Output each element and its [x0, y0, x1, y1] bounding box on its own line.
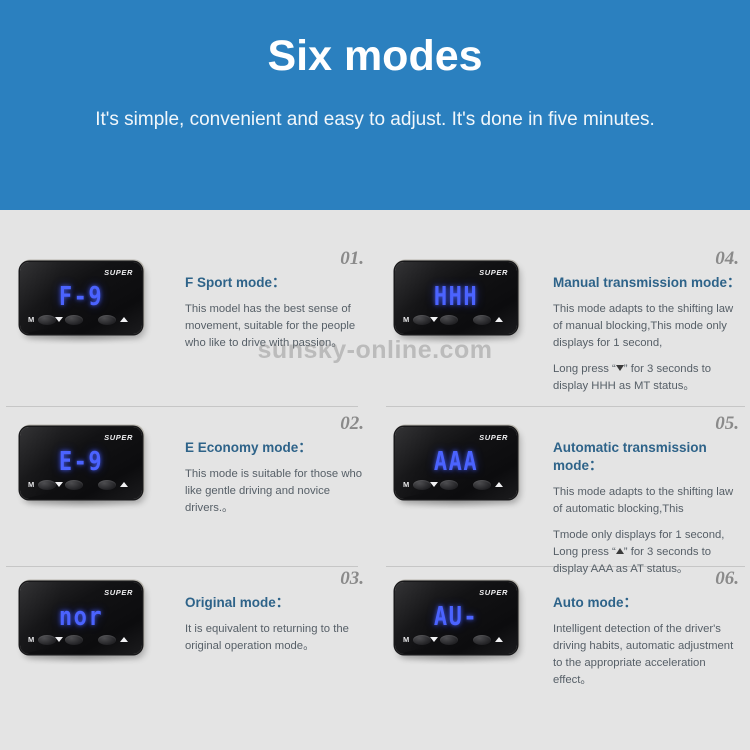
device-button-row: M [20, 312, 142, 328]
triangle-up-icon [120, 637, 128, 642]
mode-number: 05. [715, 413, 739, 435]
mode-text: 06. Auto mode： Intelligent detection of … [553, 568, 745, 689]
triangle-up-icon [616, 548, 624, 554]
triangle-down-icon [55, 637, 63, 642]
mode-card-03: SUPER nor M 03. Original mode： It is equ… [0, 568, 375, 738]
device-button-row: M [395, 312, 517, 328]
mode-number: 01. [340, 248, 364, 270]
mode-description: Intelligent detection of the driver's dr… [553, 612, 745, 690]
mode-card-06: SUPER AU- M 06. Auto mode： Intelligent d… [375, 568, 750, 738]
device-m-label: M [28, 315, 34, 324]
page-subtitle: It's simple, convenient and easy to adju… [75, 80, 675, 134]
device-brand-logo: SUPER [104, 433, 133, 442]
device-brand-logo: SUPER [479, 433, 508, 442]
mode-description: This mode is suitable for those who like… [185, 457, 370, 517]
device-button-down[interactable] [440, 635, 458, 645]
device-m-label: M [403, 315, 409, 324]
mode-number: 06. [715, 568, 739, 590]
device-button-m[interactable] [38, 635, 56, 645]
device-button-up[interactable] [98, 635, 116, 645]
mode-card-02: SUPER E-9 M 02. E Economy mode： This mod… [0, 413, 375, 568]
device-button-row: M [395, 632, 517, 648]
throttle-controller-device: SUPER F-9 M [20, 262, 142, 334]
device-button-m[interactable] [38, 480, 56, 490]
device-button-m[interactable] [413, 480, 431, 490]
device-button-down[interactable] [65, 480, 83, 490]
throttle-controller-device: SUPER E-9 M [20, 427, 142, 499]
triangle-down-icon [616, 365, 624, 371]
device-image: SUPER AAA M [389, 423, 534, 528]
triangle-down-icon [430, 637, 438, 642]
long-press-prefix: Long press “ [553, 363, 616, 375]
device-image: SUPER E-9 M [14, 423, 159, 528]
device-button-m[interactable] [38, 315, 56, 325]
device-brand-logo: SUPER [104, 268, 133, 277]
device-button-m[interactable] [413, 315, 431, 325]
device-button-up[interactable] [473, 315, 491, 325]
triangle-up-icon [495, 317, 503, 322]
mode-number: 02. [340, 413, 364, 435]
mode-card-01: SUPER F-9 M 01. F Sport mode： This model… [0, 248, 375, 413]
device-image: SUPER nor M [14, 578, 159, 683]
mode-text: 05. Automatic transmission mode： This mo… [553, 413, 745, 578]
device-brand-logo: SUPER [479, 268, 508, 277]
device-display-readout: AU- [395, 603, 517, 633]
page-title: Six modes [0, 0, 750, 80]
device-m-label: M [28, 480, 34, 489]
modes-grid: SUPER F-9 M 01. F Sport mode： This model… [0, 210, 750, 750]
mode-number: 04. [715, 248, 739, 270]
device-image: SUPER F-9 M [14, 258, 159, 363]
device-button-down[interactable] [440, 480, 458, 490]
triangle-down-icon [55, 482, 63, 487]
product-info-page: Six modes It's simple, convenient and ea… [0, 0, 750, 750]
device-button-down[interactable] [65, 635, 83, 645]
mode-text: 01. F Sport mode： This model has the bes… [185, 248, 370, 352]
throttle-controller-device: SUPER HHH M [395, 262, 517, 334]
mode-number: 03. [340, 568, 364, 590]
triangle-up-icon [495, 482, 503, 487]
mode-description: This model has the best sense of movemen… [185, 292, 370, 352]
device-display-readout: AAA [395, 448, 517, 478]
device-button-up[interactable] [98, 480, 116, 490]
device-display-readout: E-9 [20, 448, 142, 478]
device-button-m[interactable] [413, 635, 431, 645]
device-button-up[interactable] [473, 635, 491, 645]
throttle-controller-device: SUPER AU- M [395, 582, 517, 654]
device-m-label: M [28, 635, 34, 644]
triangle-down-icon [55, 317, 63, 322]
triangle-down-icon [430, 317, 438, 322]
mode-card-05: SUPER AAA M 05. Automatic transmission m… [375, 413, 750, 568]
mode-text: 02. E Economy mode： This mode is suitabl… [185, 413, 370, 517]
mode-description: This mode adapts to the shifting law of … [553, 475, 745, 518]
device-button-down[interactable] [65, 315, 83, 325]
device-m-label: M [403, 480, 409, 489]
mode-card-04: SUPER HHH M 04. Manual transmission mode… [375, 248, 750, 413]
device-m-label: M [403, 635, 409, 644]
device-button-row: M [395, 477, 517, 493]
throttle-controller-device: SUPER nor M [20, 582, 142, 654]
triangle-up-icon [120, 317, 128, 322]
device-brand-logo: SUPER [104, 588, 133, 597]
mode-description: It is equivalent to returning to the ori… [185, 612, 370, 655]
device-button-row: M [20, 632, 142, 648]
triangle-up-icon [120, 482, 128, 487]
device-image: SUPER AU- M [389, 578, 534, 683]
mode-description: This mode adapts to the shifting law of … [553, 292, 745, 352]
device-button-up[interactable] [473, 480, 491, 490]
device-display-readout: nor [20, 603, 142, 633]
throttle-controller-device: SUPER AAA M [395, 427, 517, 499]
device-button-row: M [20, 477, 142, 493]
device-button-down[interactable] [440, 315, 458, 325]
device-display-readout: HHH [395, 283, 517, 313]
device-button-up[interactable] [98, 315, 116, 325]
mode-text: 03. Original mode： It is equivalent to r… [185, 568, 370, 655]
device-image: SUPER HHH M [389, 258, 534, 363]
triangle-down-icon [430, 482, 438, 487]
device-brand-logo: SUPER [479, 588, 508, 597]
mode-text: 04. Manual transmission mode： This mode … [553, 248, 745, 396]
page-header: Six modes It's simple, convenient and ea… [0, 0, 750, 210]
device-display-readout: F-9 [20, 283, 142, 313]
triangle-up-icon [495, 637, 503, 642]
mode-description-secondary: Long press “” for 3 seconds to display H… [553, 352, 745, 395]
